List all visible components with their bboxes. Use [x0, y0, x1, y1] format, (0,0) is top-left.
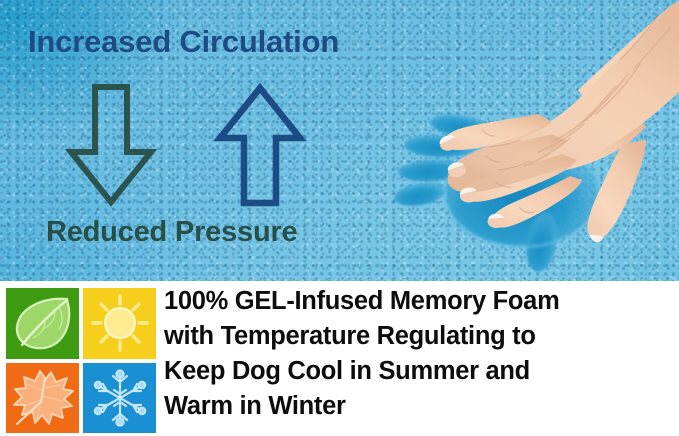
page-title: Increased Circulation [28, 24, 339, 60]
product-feature-graphic: Increased Circulation Reduced Pressure [0, 0, 679, 436]
feature-description-line-3: Keep Dog Cool in Summer and [164, 354, 676, 389]
season-tile-summer [83, 288, 156, 359]
maple-leaf-icon [11, 368, 75, 428]
feature-description-line-4: Warm in Winter [164, 389, 676, 424]
season-tile-spring [6, 288, 79, 359]
arrow-up-icon [213, 82, 307, 208]
feature-description-line-1: 100% GEL-Infused Memory Foam [164, 284, 676, 319]
season-tile-autumn [6, 363, 79, 434]
season-tile-winter [83, 363, 156, 434]
snowflake-icon [89, 368, 151, 428]
feature-info-panel: 100% GEL-Infused Memory Foam with Temper… [0, 281, 679, 436]
feature-description-line-2: with Temperature Regulating to [164, 319, 676, 354]
hand-photo-icon [370, 0, 679, 281]
hand-on-foam-photo [370, 0, 679, 281]
feature-description: 100% GEL-Infused Memory Foam with Temper… [164, 284, 676, 424]
memory-foam-photo-panel: Increased Circulation Reduced Pressure [0, 0, 679, 281]
leaf-icon [11, 293, 75, 353]
arrow-down-icon [64, 82, 158, 208]
season-icon-grid [6, 288, 156, 433]
promo-sublabel: Reduced Pressure [46, 216, 297, 249]
sun-icon [89, 293, 151, 353]
